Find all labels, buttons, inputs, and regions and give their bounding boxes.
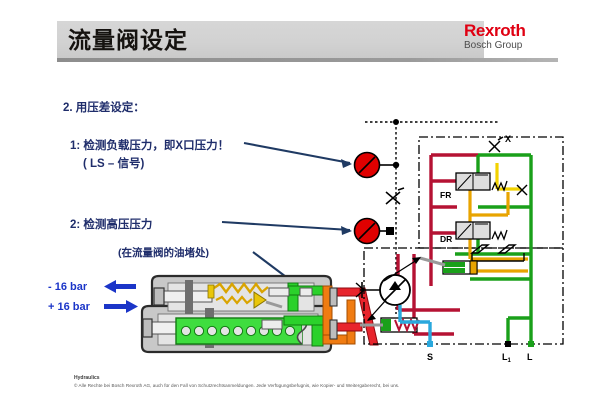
logo-tagline: Bosch Group [464,40,564,52]
pressure-gauge-1 [355,153,400,178]
piping-orange [455,186,528,271]
valve-cross-section [142,276,378,352]
schematic-label-fr: FR [440,190,451,200]
footer-copyright: © Alle Rechte bei Bosch Rexroth AG, auch… [74,383,399,388]
piping-yellow [497,163,521,189]
flow-path-green [284,283,332,346]
schematic-label-x: X [505,134,511,144]
leader-arrowheads [305,159,352,300]
arrowhead-1 [341,159,352,168]
port-marker-s [427,341,433,347]
port-label-l: L [527,352,533,362]
test-point-symbol-x [489,137,503,152]
bullet-2-text: 2: 检测高压压力 [70,216,152,232]
main-spring-coils [181,326,294,335]
leader-arrow-3 [253,252,314,298]
valve-ports [262,288,312,329]
spool-cap-lower [143,319,152,337]
port-marker-l [528,341,534,347]
control-piston-spring [360,318,419,332]
flow-path-orange [323,286,355,344]
valve-body-lower [142,306,331,352]
orifice-symbol [472,245,524,261]
pressure-relief-valve-fr [456,173,507,190]
section-heading: 2. 用压差设定： [63,99,145,115]
yellow-test-point [517,185,527,195]
header-rule [57,58,558,62]
spool-rod-upper [160,291,212,302]
leader-arrows [222,143,350,298]
unit-boundary-lower [364,248,563,344]
test-point-symbol-1 [386,188,404,204]
leader-arrow-2 [222,222,350,230]
flow-path-red [336,288,378,345]
arrow-right-16bar [104,300,138,313]
rexroth-logo: Rexroth Bosch Group [464,22,564,55]
bullet-2-subtext: (在流量阀的油堵处) [118,245,209,260]
logo-wordmark: Rexroth [464,22,564,40]
pressure-gauge-2 [355,219,395,244]
arrowhead-3 [305,288,316,300]
page-title: 流量阀设定 [68,24,398,58]
stroke-cylinder [420,258,477,274]
valve-divider-2 [205,308,214,348]
piping-green [455,155,531,344]
port-label-l1-sub: 1 [508,358,512,364]
main-spring-body [176,318,302,344]
pilot-spring-yellow-2 [216,297,252,303]
hydraulic-schematic: X [355,119,564,364]
variable-pump [356,257,421,321]
piping-red [398,155,478,334]
valve-chamber-lower [158,314,318,345]
bullet-1-text: 1: 检测负载压力，即X口压力！ [70,137,229,153]
spool-cap-upper [154,288,164,305]
schematic-label-dr: DR [440,234,452,244]
port-marker-l1 [505,341,511,347]
footer-title: Hydraulics [74,375,100,381]
pilot-line-dotted [365,122,500,314]
pressure-positive-label: + 16 bar [48,301,90,313]
pilot-spring-yellow [214,284,268,292]
valve-plug-right-lower [330,320,337,339]
valve-body-upper [152,276,331,318]
pilot-poppet [254,292,266,308]
port-label-s: S [427,352,433,362]
bar-direction-arrows [104,280,138,313]
leader-arrow-1 [244,143,350,163]
pressure-negative-label: - 16 bar [48,281,87,293]
piping-blue-suction [400,305,430,344]
valve-divider-1 [185,280,193,314]
port-label-l1-main: L [502,352,508,362]
main-spool-edge [298,318,307,344]
port-label-l1: L1 [502,352,512,364]
slide-root: 流量阀设定 Rexroth Bosch Group 2. 用压差设定： 1: 检… [0,0,600,413]
spool-rod-lower [148,322,200,334]
pilot-spring-seat [208,285,214,298]
valve-plug-right-upper [330,288,337,306]
arrowhead-2 [341,226,352,235]
bullet-1-subtext: ( LS – 信号) [83,155,144,171]
arrow-left-16bar [104,280,136,293]
valve-chamber-upper [168,283,314,311]
unit-boundary-upper [419,137,563,248]
pilot-junction-dot [393,119,399,125]
pilot-link [266,302,282,307]
pressure-relief-valve-dr [456,222,507,239]
